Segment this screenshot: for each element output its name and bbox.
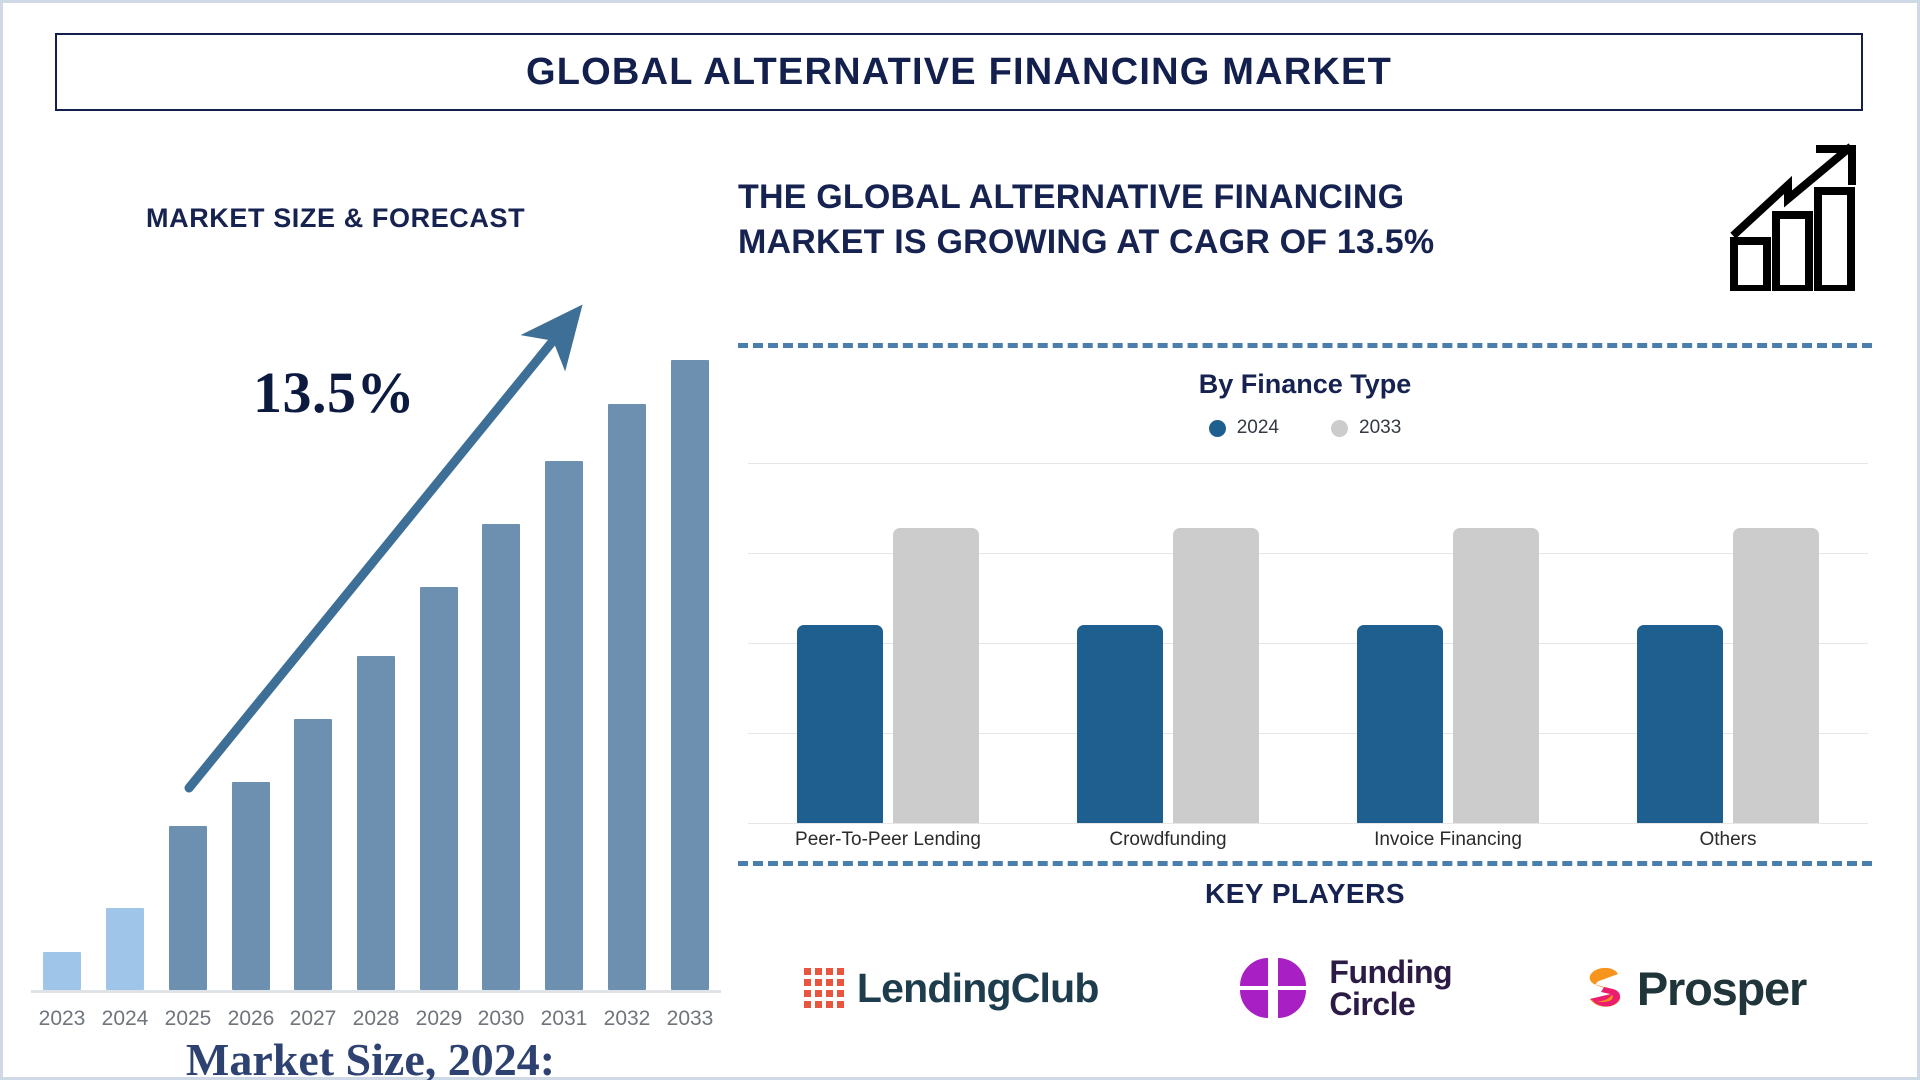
year-label: 2031 <box>533 1007 595 1031</box>
logo-funding-circle: Funding Circle <box>1230 956 1452 1020</box>
lendingclub-wordmark: LendingClub <box>857 965 1099 1012</box>
finance-type-bar <box>893 528 979 823</box>
logo-lendingclub: LendingClub <box>804 965 1099 1012</box>
finance-type-bar <box>1173 528 1259 823</box>
left-panel: MARKET SIZE & FORECAST 13.5% 20232024202… <box>3 133 738 1053</box>
year-label: 2030 <box>470 1007 532 1031</box>
finance-type-bar <box>797 625 883 823</box>
legend-label: 2033 <box>1359 417 1401 439</box>
lendingclub-dot <box>837 1001 844 1008</box>
finance-type-label: Others <box>1588 829 1868 851</box>
key-players-title: KEY PLAYERS <box>738 878 1872 910</box>
lendingclub-dot <box>804 979 811 986</box>
market-size-bar <box>294 719 332 990</box>
market-size-callout: Market Size, 2024: USD ~200 Billion <box>3 1033 738 1080</box>
year-axis-labels: 2023202420252026202720282029203020312032… <box>31 999 721 1031</box>
market-size-bar <box>545 461 583 990</box>
legend-label: 2024 <box>1237 417 1279 439</box>
legend-item[interactable]: 2033 <box>1331 417 1401 439</box>
lendingclub-dot <box>815 968 822 975</box>
funding-circle-petals-icon <box>1230 956 1316 1020</box>
finance-type-category-labels: Peer-To-Peer LendingCrowdfundingInvoice … <box>748 829 1868 855</box>
market-size-line-1: Market Size, 2024: <box>3 1033 738 1080</box>
market-size-bar <box>671 360 709 990</box>
year-label: 2032 <box>596 1007 658 1031</box>
legend-color-dot-icon <box>1209 420 1226 437</box>
finance-type-bar <box>1453 528 1539 823</box>
funding-circle-wordmark: Funding Circle <box>1329 956 1452 1020</box>
finance-type-label: Invoice Financing <box>1308 829 1588 851</box>
finance-type-bar <box>1357 625 1443 823</box>
year-label: 2026 <box>220 1007 282 1031</box>
page-title: GLOBAL ALTERNATIVE FINANCING MARKET <box>526 51 1392 94</box>
market-size-bar <box>482 524 520 990</box>
year-label: 2024 <box>94 1007 156 1031</box>
year-label: 2029 <box>408 1007 470 1031</box>
lendingclub-dot <box>826 968 833 975</box>
chart-legend: 20242033 <box>738 417 1872 439</box>
cagr-headline: THE GLOBAL ALTERNATIVE FINANCING MARKET … <box>738 175 1698 265</box>
year-label: 2033 <box>659 1007 721 1031</box>
lendingclub-dot <box>837 990 844 997</box>
infographic-page: GLOBAL ALTERNATIVE FINANCING MARKET MARK… <box>0 0 1920 1080</box>
prosper-wordmark: Prosper <box>1637 961 1806 1016</box>
finance-type-bar <box>1077 625 1163 823</box>
lendingclub-dot <box>804 1001 811 1008</box>
finance-type-bar <box>1637 625 1723 823</box>
growth-chart-arrow-icon <box>1726 141 1866 291</box>
divider-bottom <box>738 861 1872 866</box>
legend-color-dot-icon <box>1331 420 1348 437</box>
lendingclub-dot <box>837 968 844 975</box>
year-label: 2023 <box>31 1007 93 1031</box>
year-label: 2027 <box>282 1007 344 1031</box>
market-size-bar <box>43 952 81 990</box>
market-size-bar <box>357 656 395 990</box>
market-size-forecast-heading: MARKET SIZE & FORECAST <box>146 203 525 234</box>
page-title-box: GLOBAL ALTERNATIVE FINANCING MARKET <box>55 33 1863 111</box>
market-size-bar <box>169 826 207 990</box>
cagr-headline-line-1: THE GLOBAL ALTERNATIVE FINANCING <box>738 175 1698 220</box>
market-size-bar <box>608 404 646 990</box>
funding-circle-line-1: Funding <box>1329 956 1452 988</box>
legend-item[interactable]: 2024 <box>1209 417 1279 439</box>
year-label: 2028 <box>345 1007 407 1031</box>
prosper-s-icon <box>1584 965 1624 1011</box>
by-finance-type-title: By Finance Type <box>738 369 1872 400</box>
market-size-bar <box>106 908 144 990</box>
market-size-bar <box>232 782 270 990</box>
finance-type-bar <box>1733 528 1819 823</box>
right-panel: THE GLOBAL ALTERNATIVE FINANCING MARKET … <box>738 133 1918 1053</box>
lendingclub-dot <box>804 990 811 997</box>
year-label: 2025 <box>157 1007 219 1031</box>
market-size-bar <box>420 587 458 990</box>
lendingclub-dot <box>837 979 844 986</box>
finance-type-label: Peer-To-Peer Lending <box>748 829 1028 851</box>
finance-type-label: Crowdfunding <box>1028 829 1308 851</box>
lendingclub-dot <box>815 990 822 997</box>
funding-circle-line-2: Circle <box>1329 988 1452 1020</box>
lendingclub-dot <box>826 990 833 997</box>
chart-gridline <box>748 463 1868 464</box>
logo-prosper: Prosper <box>1584 961 1806 1016</box>
lendingclub-dot <box>815 979 822 986</box>
lendingclub-dot <box>826 1001 833 1008</box>
by-finance-type-chart <box>748 463 1868 823</box>
lendingclub-dot <box>815 1001 822 1008</box>
chart-gridline <box>748 823 1868 824</box>
divider-top <box>738 343 1872 348</box>
key-players-logos: LendingClub Funding Circle <box>738 933 1872 1043</box>
chart-baseline <box>31 990 721 993</box>
lendingclub-grid-icon <box>804 968 844 1008</box>
cagr-callout: 13.5% <box>253 359 415 426</box>
lendingclub-dot <box>804 968 811 975</box>
lendingclub-dot <box>826 979 833 986</box>
cagr-headline-line-2: MARKET IS GROWING AT CAGR OF 13.5% <box>738 220 1698 265</box>
